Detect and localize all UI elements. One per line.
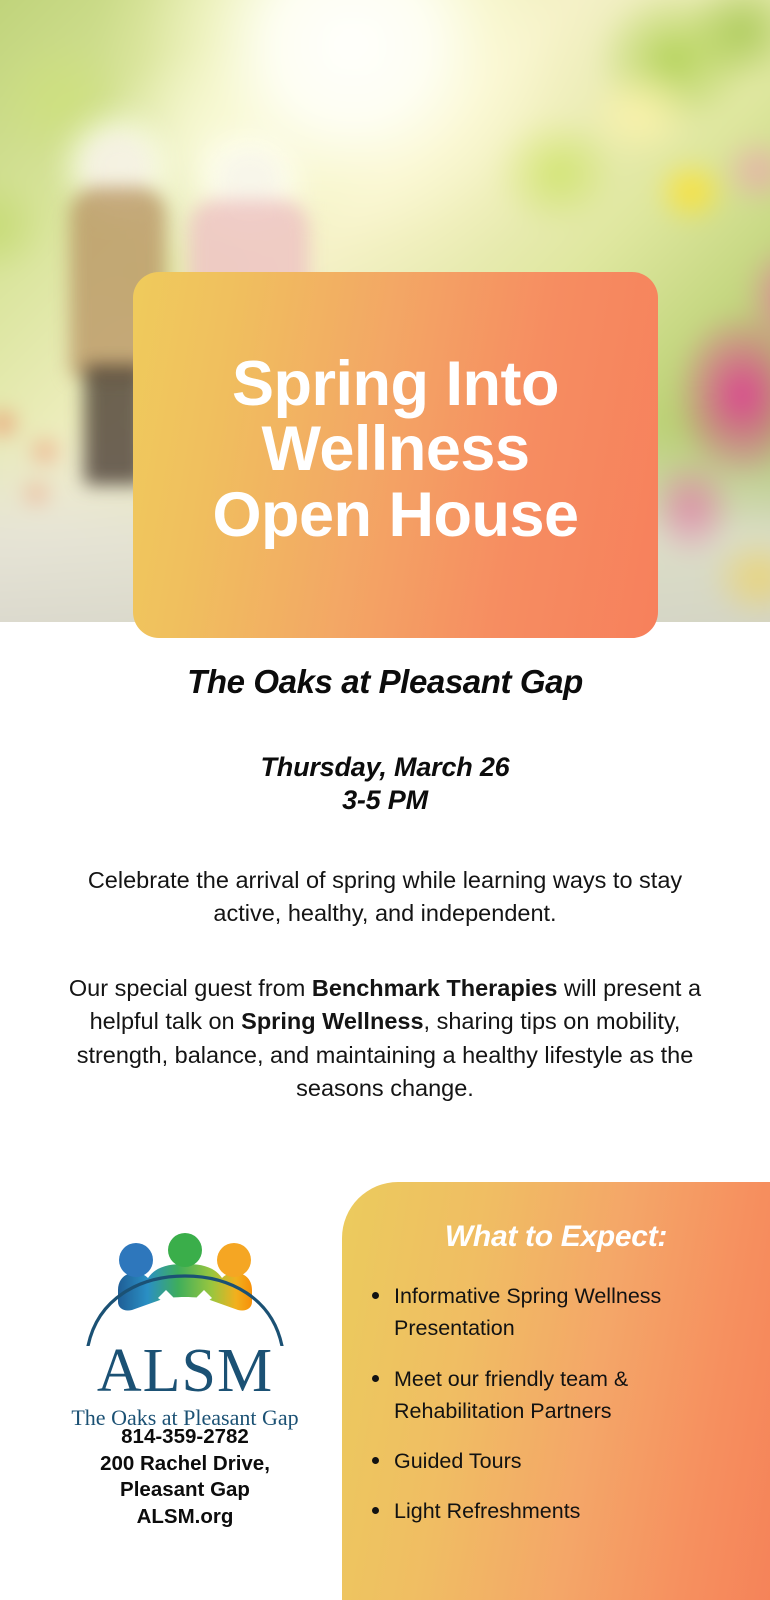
title-line-1: Spring Into — [212, 352, 578, 418]
list-item: Light Refreshments — [368, 1495, 754, 1527]
list-item: Guided Tours — [368, 1445, 754, 1477]
list-item-label: Informative Spring Wellness Presentation — [394, 1280, 754, 1345]
guest-speaker-paragraph: Our special guest from Benchmark Therapi… — [55, 972, 715, 1105]
title-banner: Spring Into Wellness Open House — [133, 272, 658, 638]
list-item-label: Guided Tours — [394, 1445, 754, 1477]
what-to-expect-heading: What to Expect: — [342, 1220, 770, 1254]
contact-address-line-1: 200 Rachel Drive, — [30, 1451, 340, 1478]
bullet-icon — [372, 1375, 379, 1382]
venue-name: The Oaks at Pleasant Gap — [0, 663, 770, 701]
contact-address-line-2: Pleasant Gap — [30, 1477, 340, 1504]
list-item: Meet our friendly team & Rehabilitation … — [368, 1363, 754, 1428]
list-item: Informative Spring Wellness Presentation — [368, 1280, 754, 1345]
alsm-wordmark: ALSM — [30, 1342, 340, 1401]
what-to-expect-panel: What to Expect: Informative Spring Welln… — [342, 1182, 770, 1600]
paragraph-text-1: Our special guest from — [69, 975, 312, 1001]
list-item-label: Light Refreshments — [394, 1495, 754, 1527]
alsm-logo-mark-icon — [60, 1228, 310, 1346]
list-item-label: Meet our friendly team & Rehabilitation … — [394, 1363, 754, 1428]
title-line-2: Wellness — [212, 417, 578, 483]
event-date: Thursday, March 26 — [0, 751, 770, 784]
bullet-icon — [372, 1457, 379, 1464]
event-flyer: Spring Into Wellness Open House The Oaks… — [0, 0, 770, 1600]
event-datetime: Thursday, March 26 3-5 PM — [0, 751, 770, 817]
flyer-title: Spring Into Wellness Open House — [212, 352, 578, 549]
bullet-icon — [372, 1507, 379, 1514]
bullet-icon — [372, 1292, 379, 1299]
contact-website[interactable]: ALSM.org — [30, 1504, 340, 1531]
what-to-expect-list: Informative Spring Wellness Presentation… — [368, 1280, 754, 1546]
intro-paragraph: Celebrate the arrival of spring while le… — [55, 864, 715, 931]
contact-info: 814-359-2782 200 Rachel Drive, Pleasant … — [30, 1424, 340, 1531]
event-time: 3-5 PM — [0, 784, 770, 817]
contact-phone[interactable]: 814-359-2782 — [30, 1424, 340, 1451]
alsm-logo: ALSM The Oaks at Pleasant Gap — [30, 1228, 340, 1431]
spring-wellness-emphasis: Spring Wellness — [241, 1008, 423, 1034]
title-line-3: Open House — [212, 483, 578, 549]
benchmark-therapies-emphasis: Benchmark Therapies — [312, 975, 558, 1001]
